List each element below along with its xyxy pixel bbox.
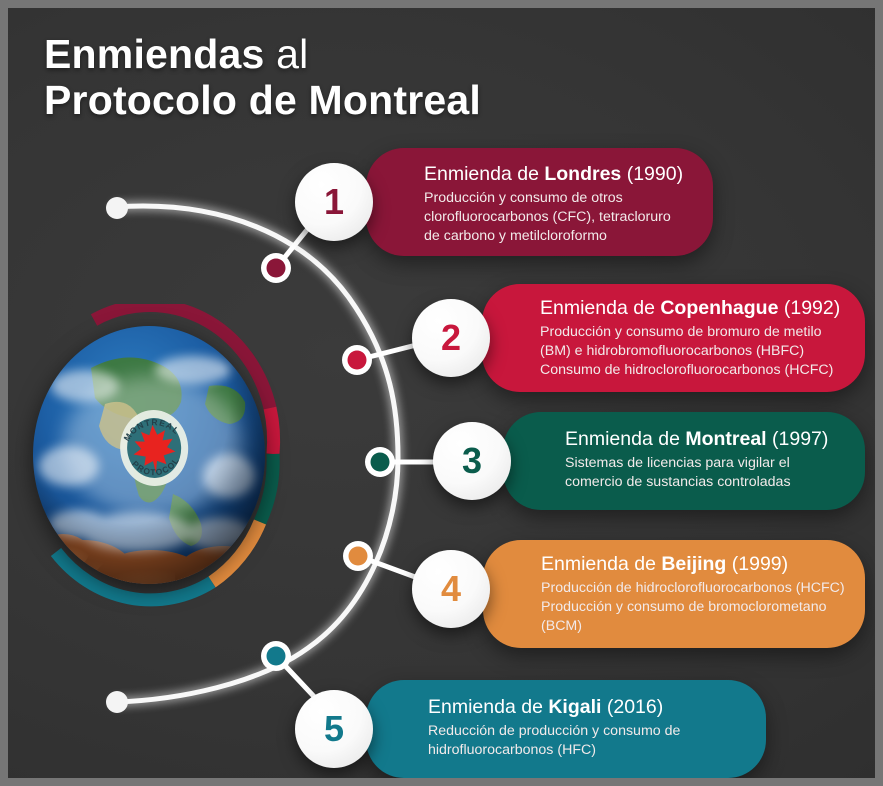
amendment-1-prefix: Enmienda de: [424, 163, 544, 185]
amendment-1-body: Producción y consumo de otros clorofluor…: [424, 189, 697, 246]
node-2-dot: [348, 351, 367, 370]
node-3-ring: [365, 447, 395, 477]
earth-image: MONTREAL PROTOCOL: [33, 326, 265, 584]
amendment-5-prefix: Enmienda de: [428, 696, 548, 718]
ring-seg-2: [270, 408, 274, 454]
arc-endpoint-top: [106, 197, 128, 219]
amendment-5-city: Kigali: [548, 696, 601, 718]
amendment-3-year: (1997): [772, 428, 828, 450]
amendment-card-2[interactable]: Enmienda de Copenhague (1992) Producción…: [482, 284, 865, 392]
node-4-ring: [343, 541, 373, 571]
amendment-2-line-3: Consumo de hidroclorofluorocarbonos (HCF…: [540, 361, 853, 380]
amendment-5-line-2: hidrofluorocarbonos (HFC): [428, 741, 752, 760]
amendment-3-line-1: Sistemas de licencias para vigilar el: [565, 454, 851, 473]
amendment-5-line-1: Reducción de producción y consumo de: [428, 722, 752, 741]
amendment-1-number[interactable]: 1: [295, 163, 373, 241]
amendment-card-4[interactable]: Enmienda de Beijing (1999) Producción de…: [483, 540, 865, 648]
amendment-1-year: (1990): [627, 163, 683, 185]
amendment-2-prefix: Enmienda de: [540, 297, 660, 319]
montreal-protocol-badge: MONTREAL PROTOCOL: [112, 401, 196, 492]
amendment-3-line-2: comercio de sustancias controladas: [565, 473, 851, 492]
title-line-2: Protocolo de Montreal: [44, 78, 481, 124]
amendment-2-title: Enmienda de Copenhague (1992): [540, 297, 853, 320]
amendment-1-line-1: Producción y consumo de otros: [424, 189, 697, 208]
amendment-card-1[interactable]: Enmienda de Londres (1990) Producción y …: [366, 148, 713, 256]
amendment-3-prefix: Enmienda de: [565, 428, 685, 450]
amendment-4-city: Beijing: [661, 553, 726, 575]
node-1-ring: [261, 253, 291, 283]
arc-endpoint-bottom: [106, 691, 128, 713]
amendment-4-line-3: (BCM): [541, 617, 853, 636]
amendment-2-line-2: (BM) e hidrobromofluorocarbonos (HBFC): [540, 342, 853, 361]
infographic-canvas: Enmiendas al Protocolo de Montreal: [8, 8, 875, 778]
amendment-4-title: Enmienda de Beijing (1999): [541, 553, 853, 576]
amendment-5-year: (2016): [607, 696, 663, 718]
amendment-card-3[interactable]: Enmienda de Montreal (1997) Sistemas de …: [503, 412, 865, 510]
title-word-enmiendas: Enmiendas: [44, 31, 265, 77]
amendment-3-number-label: 3: [462, 440, 482, 482]
node-4-dot: [349, 547, 368, 566]
amendment-4-line-1: Producción de hidroclorofluorocarbonos (…: [541, 579, 853, 598]
node-5-dot: [267, 647, 286, 666]
infographic-frame: Enmiendas al Protocolo de Montreal: [0, 0, 883, 786]
amendment-5-number[interactable]: 5: [295, 690, 373, 768]
amendment-2-number[interactable]: 2: [412, 299, 490, 377]
node-1-dot: [267, 259, 286, 278]
amendment-5-number-label: 5: [324, 708, 344, 750]
amendment-5-body: Reducción de producción y consumo de hid…: [428, 722, 752, 760]
amendment-1-line-2: clorofluorocarbonos (CFC), tetracloruro: [424, 208, 697, 227]
amendment-2-year: (1992): [784, 297, 840, 319]
amendment-4-year: (1999): [732, 553, 788, 575]
title-line-1: Enmiendas al: [44, 32, 481, 78]
amendment-4-prefix: Enmienda de: [541, 553, 661, 575]
node-3-dot: [371, 453, 390, 472]
amendment-card-5[interactable]: Enmienda de Kigali (2016) Reducción de p…: [366, 680, 766, 778]
amendment-1-number-label: 1: [324, 181, 344, 223]
node-2-ring: [342, 345, 372, 375]
amendment-5-title: Enmienda de Kigali (2016): [428, 696, 752, 719]
amendment-1-city: Londres: [544, 163, 621, 185]
node-5-ring: [261, 641, 291, 671]
amendment-2-number-label: 2: [441, 317, 461, 359]
amendment-4-line-2: Producción y consumo de bromoclorometano: [541, 598, 853, 617]
amendment-2-body: Producción y consumo de bromuro de metil…: [540, 323, 853, 380]
amendment-1-line-3: de carbono y metilcloroformo: [424, 227, 697, 246]
amendment-3-title: Enmienda de Montreal (1997): [565, 428, 851, 451]
amendment-4-number-label: 4: [441, 568, 461, 610]
amendment-3-body: Sistemas de licencias para vigilar el co…: [565, 454, 851, 492]
amendment-4-number[interactable]: 4: [412, 550, 490, 628]
amendment-2-line-1: Producción y consumo de bromuro de metil…: [540, 323, 853, 342]
globe-graphic: MONTREAL PROTOCOL: [16, 304, 284, 608]
amendment-3-number[interactable]: 3: [433, 422, 511, 500]
page-title: Enmiendas al Protocolo de Montreal: [44, 32, 481, 124]
title-word-al: al: [265, 31, 309, 77]
amendment-2-city: Copenhague: [660, 297, 778, 319]
amendment-1-title: Enmienda de Londres (1990): [424, 163, 697, 186]
amendment-3-city: Montreal: [685, 428, 766, 450]
amendment-4-body: Producción de hidroclorofluorocarbonos (…: [541, 579, 853, 636]
